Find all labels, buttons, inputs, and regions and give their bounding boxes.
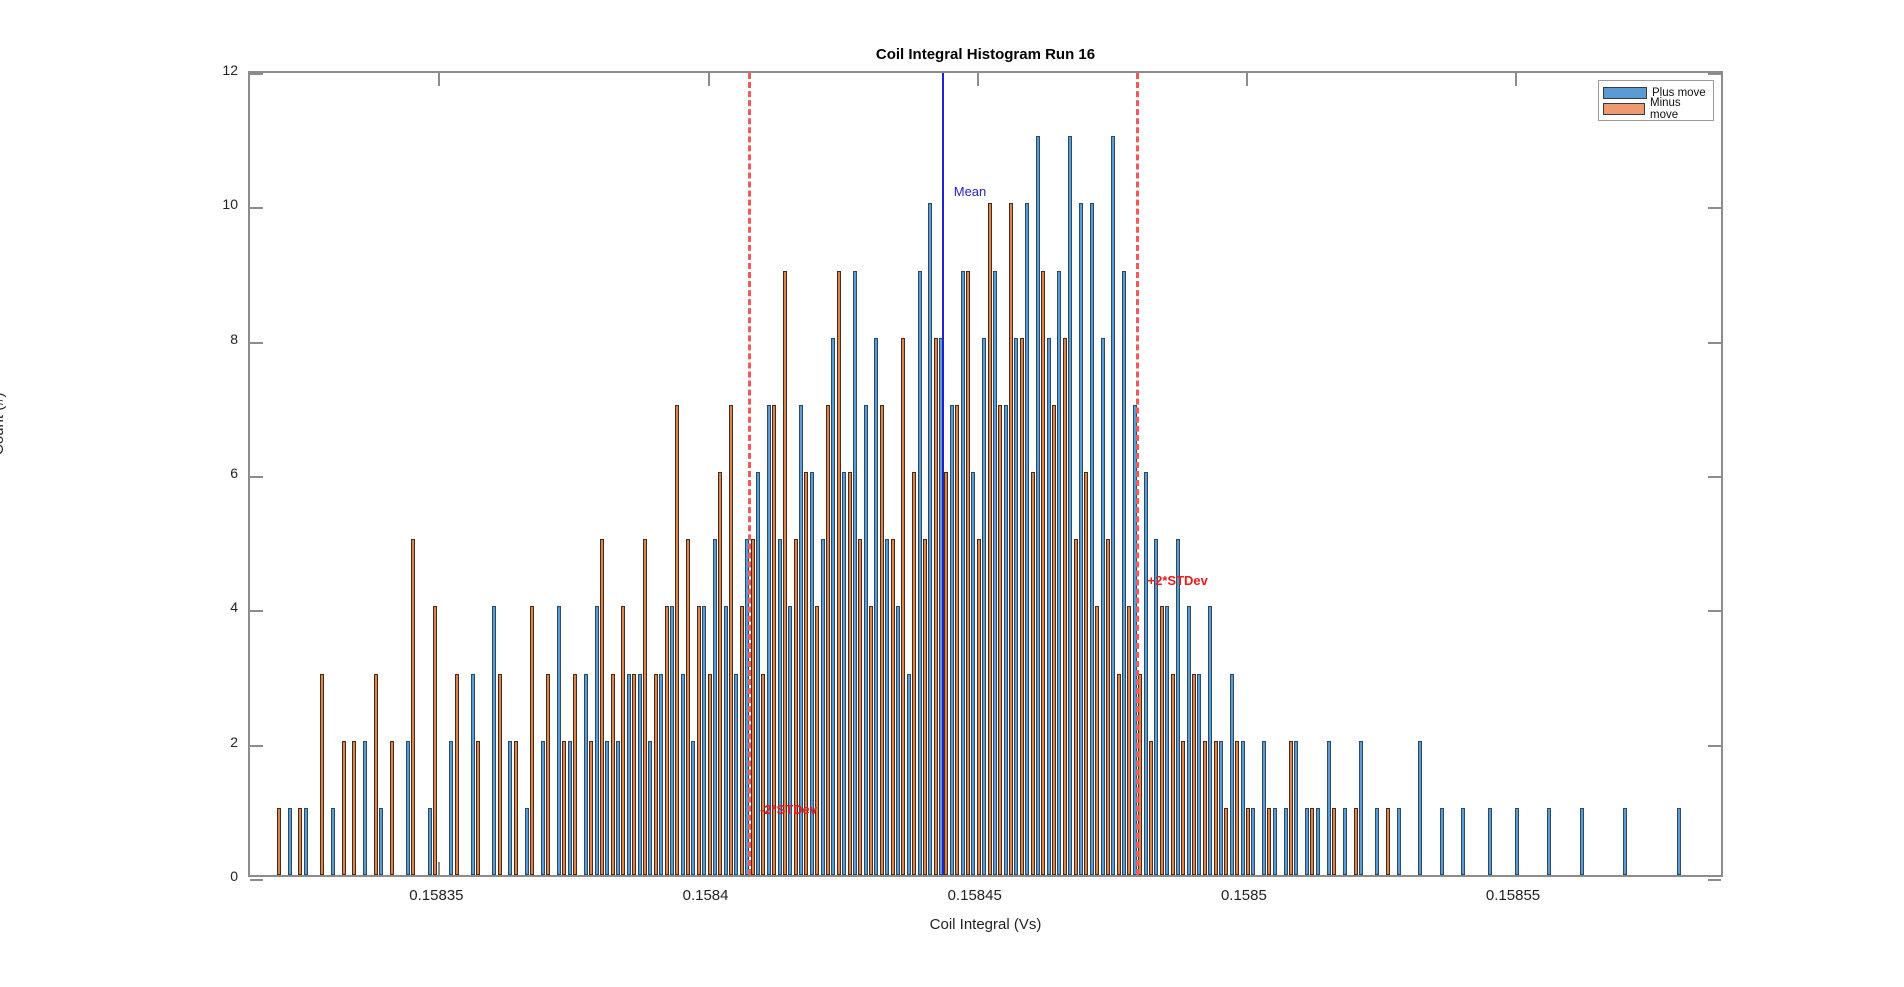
histogram-bar: [541, 741, 545, 875]
histogram-bar: [374, 674, 378, 876]
y-axis-title: Count (#): [0, 392, 7, 455]
histogram-bar: [277, 808, 281, 875]
legend-label-minus-move: Minus move: [1650, 97, 1709, 121]
histogram-bar: [659, 674, 663, 876]
x-axis-tick-label: 0.1585: [1184, 887, 1304, 904]
histogram-bar: [1461, 808, 1465, 875]
histogram-bar: [1004, 405, 1008, 875]
histogram-bar: [1488, 808, 1492, 875]
y-axis-tick-label: 2: [178, 734, 238, 750]
reference-line-label: +2*STDev: [1148, 573, 1208, 588]
histogram-bar: [1354, 808, 1358, 875]
histogram-bar: [525, 808, 529, 875]
histogram-bar: [1192, 674, 1196, 876]
histogram-bar: [298, 808, 302, 875]
histogram-bar: [1020, 338, 1024, 875]
histogram-bar: [584, 674, 588, 876]
histogram-bar: [1294, 741, 1298, 875]
histogram-bar: [514, 741, 518, 875]
histogram-bar: [718, 472, 722, 875]
histogram-bar: [1063, 338, 1067, 875]
histogram-bar: [304, 808, 308, 875]
y-axis-tick-label: 4: [178, 599, 238, 615]
histogram-bar: [686, 539, 690, 875]
histogram-bar: [654, 674, 658, 876]
histogram-bar: [648, 741, 652, 875]
histogram-bar: [632, 674, 636, 876]
histogram-bar: [1515, 808, 1519, 875]
histogram-bar: [848, 472, 852, 875]
histogram-bar: [1677, 808, 1681, 875]
histogram-bar: [1397, 808, 1401, 875]
histogram-bar: [352, 741, 356, 875]
histogram-bar: [433, 606, 437, 875]
histogram-bar: [1316, 808, 1320, 875]
histogram-bar: [1127, 606, 1131, 875]
histogram-bar: [713, 539, 717, 875]
histogram-bar: [821, 539, 825, 875]
histogram-bar: [476, 741, 480, 875]
x-axis-tick-label: 0.15835: [376, 887, 496, 904]
histogram-bar: [449, 741, 453, 875]
histogram-bar: [1251, 808, 1255, 875]
histogram-bar: [702, 606, 706, 875]
histogram-bar: [363, 741, 367, 875]
histogram-bar: [1014, 338, 1018, 875]
histogram-bar: [874, 338, 878, 875]
histogram-bar: [681, 674, 685, 876]
histogram-bar: [638, 674, 642, 876]
histogram-bar: [546, 674, 550, 876]
histogram-bar: [390, 741, 394, 875]
y-axis-tick: [1708, 879, 1721, 881]
y-axis-tick-label: 0: [178, 868, 238, 884]
histogram-bar: [455, 674, 459, 876]
x-axis-tick: [1515, 73, 1517, 86]
figure-canvas: Coil Integral Histogram Run 16 Count (#)…: [0, 0, 1904, 987]
histogram-bar: [934, 338, 938, 875]
histogram-bar: [891, 539, 895, 875]
histogram-bar: [918, 271, 922, 876]
histogram-bar: [993, 271, 997, 876]
histogram-bar: [944, 472, 948, 875]
histogram-bar: [1079, 203, 1083, 875]
histogram-bar: [912, 472, 916, 875]
y-axis-tick: [250, 342, 263, 344]
histogram-bar: [1327, 741, 1331, 875]
plot-area: Mean-2*STDev+2*STDev: [248, 71, 1723, 877]
histogram-bar: [826, 405, 830, 875]
histogram-bar: [982, 338, 986, 875]
histogram-bar: [783, 271, 787, 876]
legend-item-minus-move[interactable]: Minus move: [1603, 101, 1709, 116]
histogram-bar: [1267, 808, 1271, 875]
reference-line-label: Mean: [954, 184, 987, 199]
histogram-bar: [885, 539, 889, 875]
histogram-bar: [428, 808, 432, 875]
histogram-bar: [1144, 472, 1148, 875]
histogram-bar: [1359, 741, 1363, 875]
histogram-bar: [670, 606, 674, 875]
histogram-bar: [896, 606, 900, 875]
histogram-bar: [1305, 808, 1309, 875]
histogram-bar: [1095, 606, 1099, 875]
histogram-bar: [751, 539, 755, 875]
x-axis-tick: [977, 73, 979, 86]
histogram-bar: [831, 338, 835, 875]
y-axis-tick-label: 8: [178, 331, 238, 347]
histogram-bar: [1262, 741, 1266, 875]
histogram-bar: [1219, 741, 1223, 875]
histogram-bar: [988, 203, 992, 875]
histogram-bar: [864, 405, 868, 875]
histogram-bar: [568, 741, 572, 875]
histogram-bar: [966, 271, 970, 876]
histogram-bar: [724, 606, 728, 875]
histogram-bar: [621, 606, 625, 875]
histogram-bar: [697, 606, 701, 875]
histogram-bar: [627, 674, 631, 876]
histogram-bar: [1052, 405, 1056, 875]
y-axis-tick-label: 6: [178, 465, 238, 481]
histogram-bar: [1208, 606, 1212, 875]
histogram-bar: [1160, 606, 1164, 875]
histogram-bar: [573, 674, 577, 876]
histogram-bar: [1117, 674, 1121, 876]
histogram-bar: [616, 741, 620, 875]
histogram-bar: [1068, 136, 1072, 875]
y-axis-tick: [250, 610, 263, 612]
histogram-bar: [379, 808, 383, 875]
histogram-bar: [928, 203, 932, 875]
histogram-bar: [1047, 338, 1051, 875]
histogram-bar: [611, 674, 615, 876]
histogram-bar: [708, 674, 712, 876]
histogram-bar: [998, 405, 1002, 875]
histogram-bar: [492, 606, 496, 875]
histogram-bar: [1041, 271, 1045, 876]
histogram-bar: [955, 405, 959, 875]
histogram-bar: [589, 741, 593, 875]
histogram-bar: [1623, 808, 1627, 875]
histogram-bar: [1580, 808, 1584, 875]
chart-title: Coil Integral Histogram Run 16: [248, 46, 1723, 63]
histogram-bar: [1036, 136, 1040, 875]
histogram-bar: [1203, 741, 1207, 875]
histogram-bar: [595, 606, 599, 875]
y-axis-tick: [1708, 342, 1721, 344]
histogram-bar: [1310, 808, 1314, 875]
histogram-bar: [778, 539, 782, 875]
histogram-bar: [1332, 808, 1336, 875]
y-axis-tick: [250, 879, 263, 881]
x-axis-tick: [438, 73, 440, 86]
histogram-bar: [1284, 808, 1288, 875]
x-axis-tick-label: 0.15855: [1453, 887, 1573, 904]
histogram-bar: [471, 674, 475, 876]
histogram-bar: [406, 741, 410, 875]
histogram-bar: [837, 271, 841, 876]
histogram-bar: [600, 539, 604, 875]
histogram-bar: [1149, 741, 1153, 875]
x-axis-tick: [438, 862, 440, 875]
histogram-bar: [1241, 741, 1245, 875]
histogram-bar: [923, 539, 927, 875]
histogram-bar: [1224, 808, 1228, 875]
histogram-bar: [1084, 472, 1088, 875]
histogram-bar: [880, 405, 884, 875]
histogram-bar: [320, 674, 324, 876]
histogram-bar: [675, 405, 679, 875]
histogram-bar: [342, 741, 346, 875]
y-axis-tick: [1708, 476, 1721, 478]
y-axis-tick-label: 12: [178, 62, 238, 78]
histogram-bar: [1547, 808, 1551, 875]
legend-swatch-minus-move: [1603, 103, 1645, 115]
legend[interactable]: Plus move Minus move: [1598, 80, 1714, 121]
histogram-bar: [1214, 741, 1218, 875]
histogram-bar: [815, 606, 819, 875]
histogram-bar: [1138, 674, 1142, 876]
y-axis-tick: [250, 73, 263, 75]
histogram-bar: [858, 539, 862, 875]
y-axis-tick: [1708, 207, 1721, 209]
histogram-bar: [1418, 741, 1422, 875]
histogram-bar: [1111, 136, 1115, 875]
histogram-bar: [842, 472, 846, 875]
histogram-bar: [498, 674, 502, 876]
histogram-bar: [557, 606, 561, 875]
histogram-bar: [950, 405, 954, 875]
histogram-bar: [605, 741, 609, 875]
reference-line-mean: [942, 73, 944, 875]
histogram-bar: [1090, 203, 1094, 875]
histogram-bar: [1187, 606, 1191, 875]
histogram-bar: [1235, 741, 1239, 875]
histogram-bar: [1009, 203, 1013, 875]
histogram-bar: [562, 741, 566, 875]
histogram-bar: [1171, 674, 1175, 876]
reference-line-label: -2*STDev: [760, 802, 817, 817]
x-axis-tick-label: 0.15845: [915, 887, 1035, 904]
histogram-bar: [901, 338, 905, 875]
histogram-bar: [1057, 271, 1061, 876]
histogram-bar: [1246, 808, 1250, 875]
y-axis-tick: [1708, 745, 1721, 747]
x-axis-title: Coil Integral (Vs): [248, 916, 1723, 933]
histogram-bar: [1230, 674, 1234, 876]
x-axis-tick-label: 0.1584: [646, 887, 766, 904]
histogram-bar: [971, 472, 975, 875]
histogram-bar: [761, 674, 765, 876]
histogram-bar: [729, 405, 733, 875]
y-axis-tick: [1708, 73, 1721, 75]
y-axis-tick: [250, 207, 263, 209]
histogram-bar: [734, 674, 738, 876]
histogram-bar: [288, 808, 292, 875]
y-axis-tick: [250, 745, 263, 747]
histogram-bar: [1273, 808, 1277, 875]
histogram-bar: [1386, 808, 1390, 875]
histogram-bar: [1181, 741, 1185, 875]
histogram-bar: [1289, 741, 1293, 875]
histogram-bar: [907, 674, 911, 876]
histogram-bar: [1106, 539, 1110, 875]
histogram-bar: [794, 539, 798, 875]
legend-swatch-plus-move: [1603, 87, 1647, 99]
histogram-bar: [1375, 808, 1379, 875]
histogram-bar: [665, 606, 669, 875]
histogram-bar: [788, 606, 792, 875]
reference-line-2-stdev: [1136, 73, 1139, 875]
histogram-bar: [643, 539, 647, 875]
histogram-bar: [1074, 539, 1078, 875]
reference-line-2-stdev: [748, 73, 751, 875]
histogram-bar: [331, 808, 335, 875]
histogram-bar: [411, 539, 415, 875]
histogram-bar: [961, 271, 965, 876]
y-axis-tick-label: 10: [178, 196, 238, 212]
histogram-bar: [1025, 203, 1029, 875]
histogram-bar: [853, 271, 857, 876]
x-axis-tick: [708, 73, 710, 86]
histogram-bar: [530, 606, 534, 875]
histogram-bar: [691, 741, 695, 875]
histogram-bar: [1101, 338, 1105, 875]
histogram-bar: [508, 741, 512, 875]
x-axis-tick: [1246, 73, 1248, 86]
histogram-bar: [1154, 539, 1158, 875]
histogram-bar: [1122, 271, 1126, 876]
histogram-bar: [740, 606, 744, 875]
histogram-bar: [1197, 674, 1201, 876]
histogram-bar: [1440, 808, 1444, 875]
histogram-bar: [1343, 808, 1347, 875]
histogram-bar: [869, 606, 873, 875]
y-axis-tick: [250, 476, 263, 478]
histogram-bar: [1031, 472, 1035, 875]
y-axis-tick: [1708, 610, 1721, 612]
histogram-bar: [977, 539, 981, 875]
histogram-bar: [1165, 606, 1169, 875]
histogram-bar: [1176, 539, 1180, 875]
